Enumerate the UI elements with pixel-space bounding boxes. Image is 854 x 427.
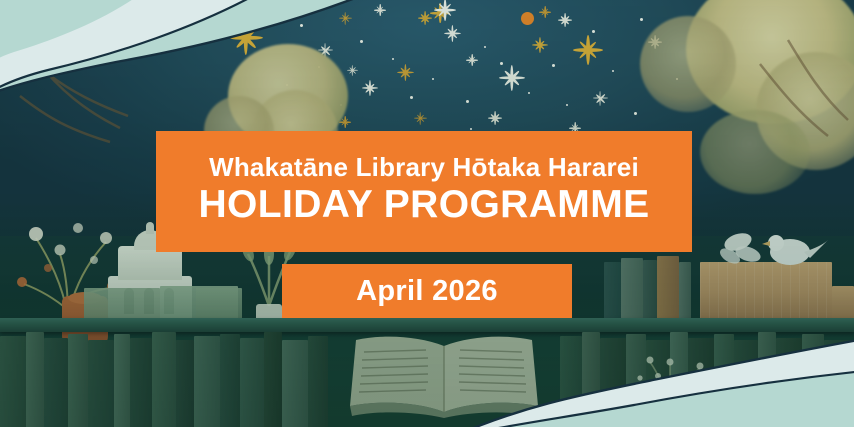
title-banner: Whakatāne Library Hōtaka Hararei HOLIDAY… bbox=[156, 131, 692, 252]
wave-decoration-bottom-right bbox=[458, 321, 854, 427]
date-banner: April 2026 bbox=[282, 264, 572, 318]
date-label: April 2026 bbox=[356, 275, 498, 308]
page-title: HOLIDAY PROGRAMME bbox=[198, 184, 649, 227]
holiday-programme-banner: Whakatāne Library Hōtaka Hararei HOLIDAY… bbox=[0, 0, 854, 427]
subtitle-maori: Whakatāne Library Hōtaka Hararei bbox=[209, 153, 639, 182]
wave-decoration-top-left bbox=[0, 0, 376, 126]
